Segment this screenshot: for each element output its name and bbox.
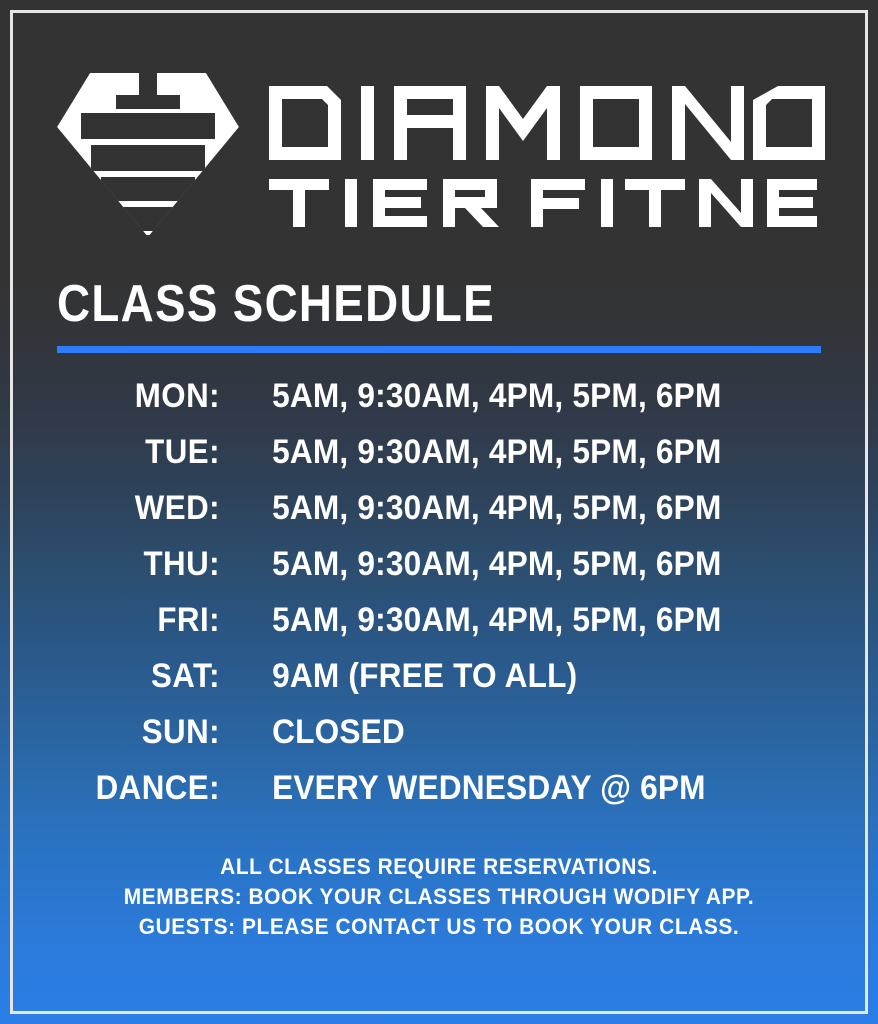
brand-name-line2 [269, 179, 825, 232]
title-accent-rule [57, 346, 821, 353]
schedule-row: TUE:5AM, 9:30AM, 4PM, 5PM, 6PM [0, 424, 878, 480]
schedule-times-value: 5AM, 9:30AM, 4PM, 5PM, 6PM [220, 368, 721, 424]
diamond-gem-weights-icon [53, 69, 243, 246]
schedule-times-value: 5AM, 9:30AM, 4PM, 5PM, 6PM [220, 424, 721, 480]
schedule-times-value: 5AM, 9:30AM, 4PM, 5PM, 6PM [220, 592, 721, 648]
schedule-row: WED:5AM, 9:30AM, 4PM, 5PM, 6PM [0, 480, 878, 536]
class-schedule-poster: CLASS SCHEDULE MON:5AM, 9:30AM, 4PM, 5PM… [0, 0, 878, 1024]
schedule-day-label: MON: [18, 368, 220, 424]
schedule-day-label: FRI: [18, 592, 220, 648]
schedule-row: THU:5AM, 9:30AM, 4PM, 5PM, 6PM [0, 536, 878, 592]
schedule-day-label: WED: [18, 480, 220, 536]
footer-line-2: MEMBERS: BOOK YOUR CLASSES THROUGH WODIF… [22, 882, 856, 912]
schedule-row: SUN:CLOSED [0, 704, 878, 760]
brand-logo [0, 62, 878, 252]
schedule-times-value: 5AM, 9:30AM, 4PM, 5PM, 6PM [220, 536, 721, 592]
schedule-times-value: 9AM (FREE TO ALL) [220, 648, 577, 704]
schedule-list: MON:5AM, 9:30AM, 4PM, 5PM, 6PMTUE:5AM, 9… [0, 368, 878, 816]
schedule-row: DANCE:EVERY WEDNESDAY @ 6PM [0, 760, 878, 816]
schedule-times-value: CLOSED [220, 704, 405, 760]
schedule-day-label: THU: [18, 536, 220, 592]
schedule-times-value: EVERY WEDNESDAY @ 6PM [220, 760, 706, 816]
schedule-day-label: TUE: [18, 424, 220, 480]
footer-note: ALL CLASSES REQUIRE RESERVATIONS. MEMBER… [0, 852, 878, 942]
schedule-day-label: SAT: [18, 648, 220, 704]
schedule-day-label: DANCE: [18, 760, 220, 816]
schedule-row: SAT:9AM (FREE TO ALL) [0, 648, 878, 704]
page-title-wrap: CLASS SCHEDULE [57, 278, 821, 330]
page-title: CLASS SCHEDULE [57, 278, 729, 330]
footer-line-3: GUESTS: PLEASE CONTACT US TO BOOK YOUR C… [22, 912, 856, 942]
brand-wordmark [269, 82, 825, 232]
schedule-row: FRI:5AM, 9:30AM, 4PM, 5PM, 6PM [0, 592, 878, 648]
footer-line-1: ALL CLASSES REQUIRE RESERVATIONS. [22, 852, 856, 882]
schedule-day-label: SUN: [18, 704, 220, 760]
schedule-times-value: 5AM, 9:30AM, 4PM, 5PM, 6PM [220, 480, 721, 536]
schedule-row: MON:5AM, 9:30AM, 4PM, 5PM, 6PM [0, 368, 878, 424]
brand-name-line1 [269, 86, 825, 165]
